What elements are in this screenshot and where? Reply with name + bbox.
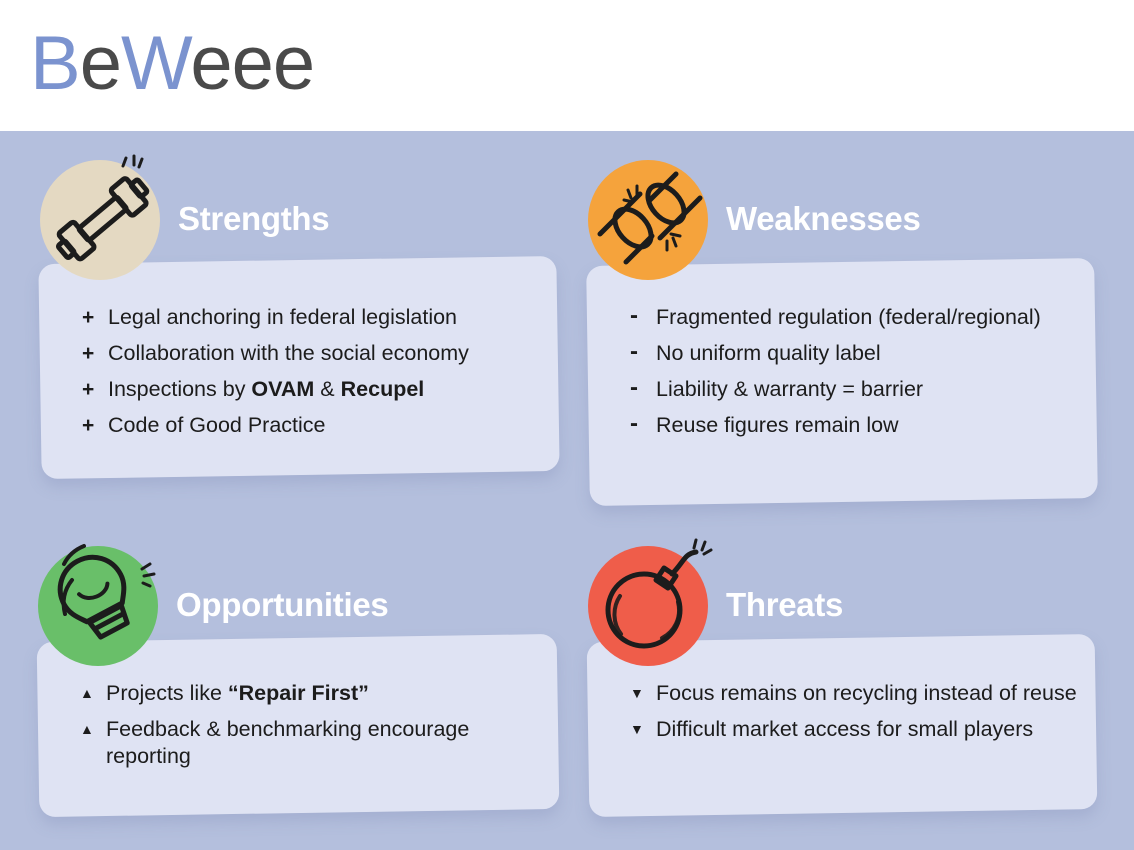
logo-letter-e: e	[80, 21, 121, 106]
text-bold-ovam: OVAM	[251, 377, 314, 401]
list-item: + Code of Good Practice	[82, 412, 552, 439]
list-item-text: Reuse figures remain low	[656, 412, 1080, 439]
logo-letter-w: W	[121, 21, 190, 106]
quadrant-threats: Threats ▼ Focus remains on recycling ins…	[588, 538, 1100, 818]
header-band: BeWeee	[0, 0, 1134, 131]
list-item-text: Feedback & benchmarking encourage report…	[106, 716, 560, 770]
list-item: ▲ Projects like “Repair First”	[80, 680, 560, 707]
threats-bullet-list: ▼ Focus remains on recycling instead of …	[630, 680, 1080, 752]
quadrant-strengths: Strengths + Legal anchoring in federal l…	[40, 152, 560, 482]
quadrant-opportunities: Opportunities ▲ Projects like “Repair Fi…	[38, 538, 560, 818]
triangle-down-icon: ▼	[630, 716, 656, 743]
list-item: + Legal anchoring in federal legislation	[82, 304, 552, 331]
list-item-text: Legal anchoring in federal legislation	[108, 304, 552, 331]
triangle-up-icon: ▲	[80, 680, 106, 707]
list-item: ▼ Difficult market access for small play…	[630, 716, 1080, 743]
list-item-text: Difficult market access for small player…	[656, 716, 1080, 743]
text-plain: &	[314, 377, 340, 401]
strengths-bullet-list: + Legal anchoring in federal legislation…	[82, 304, 552, 448]
logo-letters-eee: eee	[190, 21, 314, 106]
list-item: + Inspections by OVAM & Recupel	[82, 376, 552, 403]
plus-icon: +	[82, 304, 108, 331]
dumbbell-icon	[40, 152, 170, 282]
list-item: - Fragmented regulation (federal/regiona…	[630, 304, 1080, 331]
bomb-icon	[588, 538, 718, 668]
weaknesses-bullet-list: - Fragmented regulation (federal/regiona…	[630, 304, 1080, 448]
plus-icon: +	[82, 376, 108, 403]
list-item: ▲ Feedback & benchmarking encourage repo…	[80, 716, 560, 770]
swot-infographic: BeWeee Str	[0, 0, 1134, 850]
dash-icon: -	[630, 304, 656, 328]
list-item-text: Projects like “Repair First”	[106, 680, 560, 707]
list-item: - Liability & warranty = barrier	[630, 376, 1080, 403]
list-item: - Reuse figures remain low	[630, 412, 1080, 439]
logo-letter-b: B	[30, 21, 80, 106]
dash-icon: -	[630, 376, 656, 400]
list-item-text: Fragmented regulation (federal/regional)	[656, 304, 1080, 331]
text-bold-repair-first: “Repair First”	[228, 681, 369, 705]
opportunities-bullet-list: ▲ Projects like “Repair First” ▲ Feedbac…	[80, 680, 560, 779]
text-plain: Projects like	[106, 681, 228, 705]
brand-logo: BeWeee	[30, 26, 314, 102]
weaknesses-title: Weaknesses	[726, 200, 921, 238]
plus-icon: +	[82, 340, 108, 367]
text-plain: Inspections by	[108, 377, 251, 401]
plus-icon: +	[82, 412, 108, 439]
list-item-text: Code of Good Practice	[108, 412, 552, 439]
opportunities-title: Opportunities	[176, 586, 388, 624]
list-item: - No uniform quality label	[630, 340, 1080, 367]
list-item: ▼ Focus remains on recycling instead of …	[630, 680, 1080, 707]
threats-title: Threats	[726, 586, 843, 624]
triangle-down-icon: ▼	[630, 680, 656, 707]
text-bold-recupel: Recupel	[341, 377, 425, 401]
triangle-up-icon: ▲	[80, 716, 106, 743]
list-item-text: Focus remains on recycling instead of re…	[656, 680, 1080, 707]
strengths-title: Strengths	[178, 200, 329, 238]
list-item-text: Liability & warranty = barrier	[656, 376, 1080, 403]
lightbulb-icon	[38, 538, 168, 668]
dash-icon: -	[630, 340, 656, 364]
list-item-text: No uniform quality label	[656, 340, 1080, 367]
quadrant-weaknesses: Weaknesses - Fragmented regulation (fede…	[588, 152, 1098, 510]
list-item-text: Inspections by OVAM & Recupel	[108, 376, 552, 403]
list-item-text: Collaboration with the social economy	[108, 340, 552, 367]
dash-icon: -	[630, 412, 656, 436]
broken-chain-icon	[588, 152, 718, 282]
list-item: + Collaboration with the social economy	[82, 340, 552, 367]
